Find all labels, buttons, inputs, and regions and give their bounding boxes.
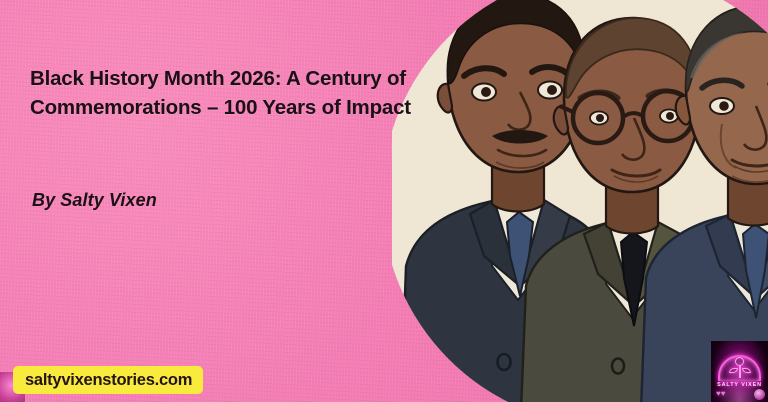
page-title: Black History Month 2026: A Century of C… <box>30 64 430 122</box>
salty-vixen-logo-badge[interactable]: SALTY VIXEN ♥♥ <box>711 341 768 402</box>
site-url-text: saltyvixenstories.com <box>25 371 192 390</box>
author-byline: By Salty Vixen <box>32 190 157 211</box>
rose-stem-icon <box>739 365 741 378</box>
round-seal-icon <box>754 389 765 400</box>
banner-canvas: Black History Month 2026: A Century of C… <box>0 0 768 402</box>
logo-badge-text: SALTY VIXEN <box>711 382 768 388</box>
hearts-icon: ♥♥ <box>716 389 726 398</box>
site-url-badge[interactable]: saltyvixenstories.com <box>13 366 203 394</box>
